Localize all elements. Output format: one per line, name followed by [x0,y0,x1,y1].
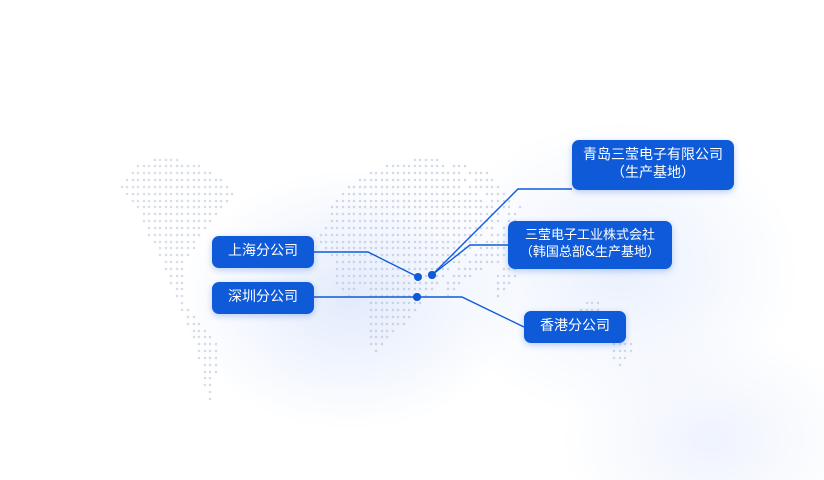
label-hongkong-branch-line1: 香港分公司 [540,318,610,336]
map-marker-shanghai[interactable] [414,273,422,281]
label-qingdao-line2: （生产基地） [611,165,695,183]
label-hongkong-branch[interactable]: 香港分公司 [524,311,626,343]
label-korea-hq-line1: 三莹电子工业株式会社 [525,228,655,245]
label-qingdao-line1: 青岛三莹电子有限公司 [583,147,723,165]
label-shenzhen-branch[interactable]: 深圳分公司 [212,282,314,314]
connector-shanghai [314,252,418,277]
world-map-infographic: 青岛三莹电子有限公司 （生产基地） 三莹电子工业株式会社 （韩国总部&生产基地）… [0,0,824,480]
map-marker-korea[interactable] [428,271,436,279]
connector-korea [432,245,508,275]
label-korea-hq-line2: （韩国总部&生产基地） [520,245,660,262]
label-korea-hq[interactable]: 三莹电子工业株式会社 （韩国总部&生产基地） [508,221,672,269]
label-qingdao[interactable]: 青岛三莹电子有限公司 （生产基地） [572,140,734,190]
map-marker-hongkong[interactable] [413,293,421,301]
label-shanghai-branch[interactable]: 上海分公司 [212,236,314,268]
label-shanghai-branch-line1: 上海分公司 [228,243,298,261]
connector-hongkong [417,297,524,327]
connector-lines-layer [0,0,824,480]
label-shenzhen-branch-line1: 深圳分公司 [228,289,298,307]
